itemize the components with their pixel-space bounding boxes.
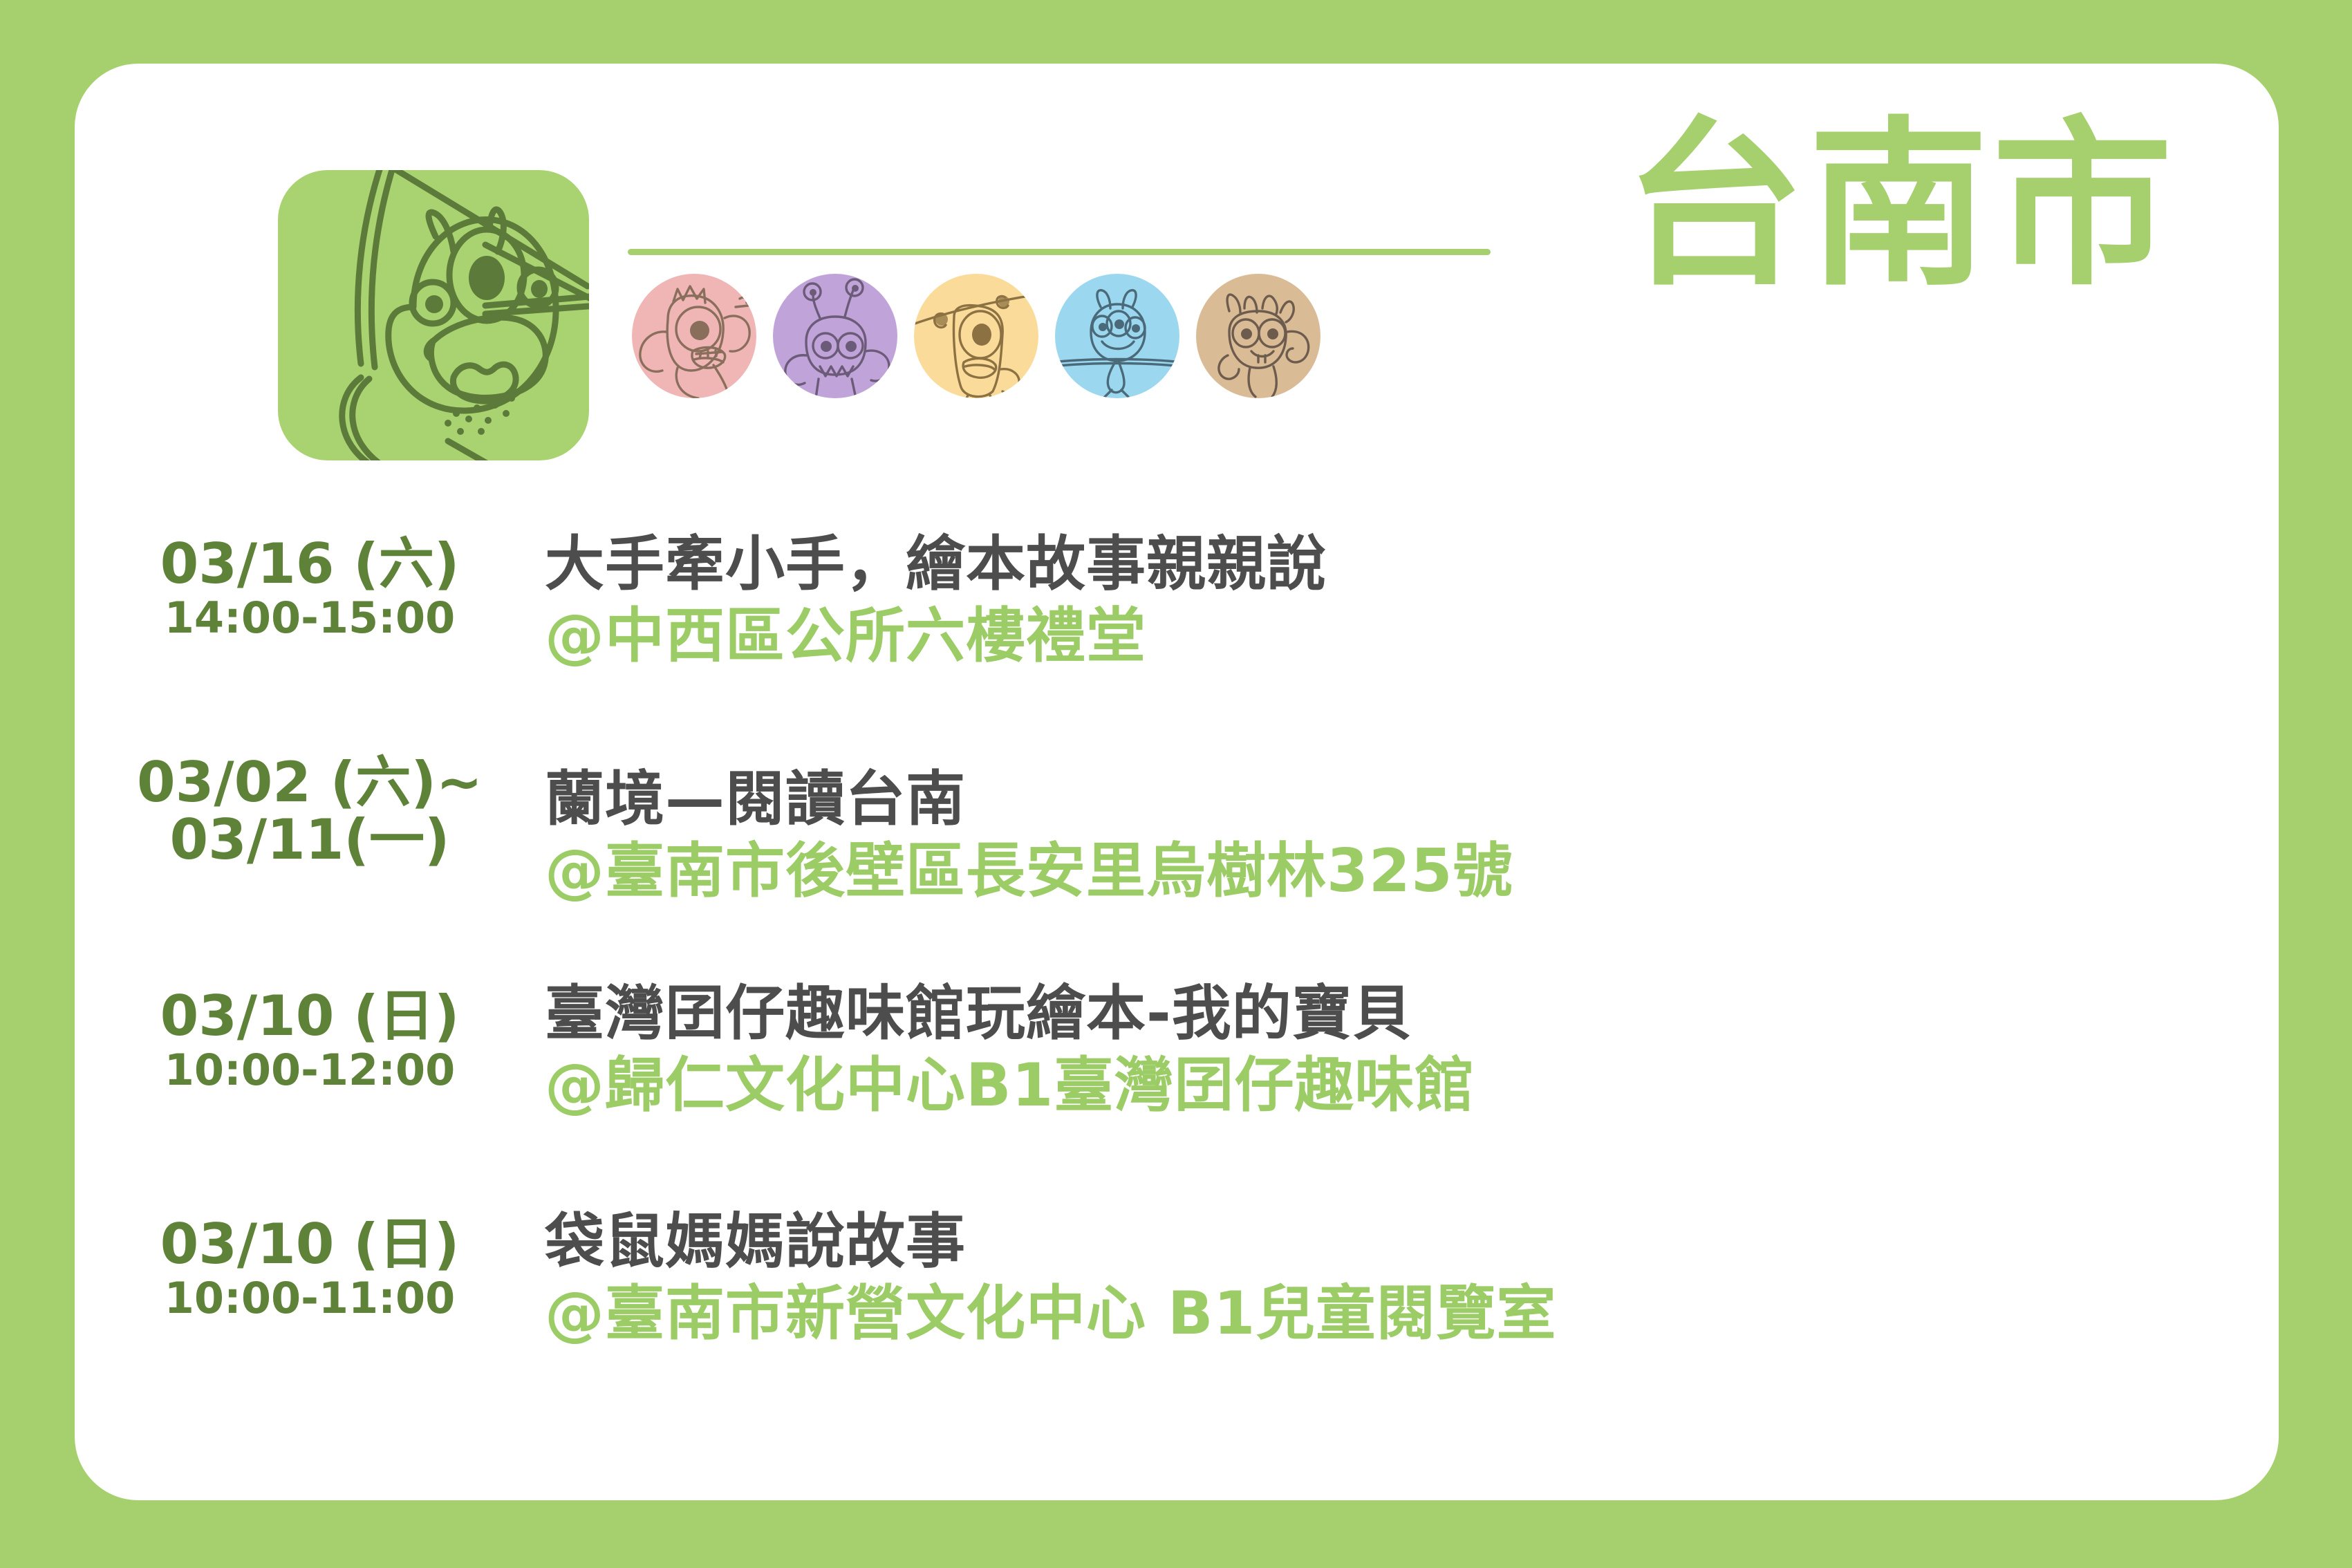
event-time: 14:00-15:00 (75, 592, 545, 643)
avatar-monster-tan (1196, 274, 1320, 398)
event-title: 大手牽小手，繪本故事親親說 (545, 530, 2279, 599)
monster-mascot-icon (278, 170, 589, 460)
event-details: 袋鼠媽媽說故事 @臺南市新營文化中心 B1兒童閱覽室 (545, 1197, 2279, 1351)
horizontal-rule-divider (628, 249, 1491, 255)
avatar-monster-pink (632, 274, 756, 398)
poster-canvas: 台南市 03/16 (六) 14:00-15:00 大手牽小手，繪本故事親親說 … (0, 0, 2352, 1568)
event-time: 10:00-12:00 (75, 1045, 545, 1095)
event-location: @臺南市新營文化中心 B1兒童閱覽室 (545, 1277, 2279, 1351)
event-row: 03/10 (日) 10:00-11:00 袋鼠媽媽說故事 @臺南市新營文化中心… (75, 1197, 2279, 1426)
event-list: 03/16 (六) 14:00-15:00 大手牽小手，繪本故事親親說 @中西區… (75, 520, 2279, 1426)
event-datetime: 03/10 (日) 10:00-11:00 (75, 1197, 545, 1323)
event-location: @臺南市後壁區長安里烏樹林325號 (545, 834, 2279, 908)
event-datetime: 03/10 (日) 10:00-12:00 (75, 969, 545, 1095)
event-datetime: 03/16 (六) 14:00-15:00 (75, 520, 545, 643)
event-details: 蘭境—閱讀台南 @臺南市後壁區長安里烏樹林325號 (545, 748, 2279, 908)
avatar-monster-blue (1055, 274, 1179, 398)
avatar-monster-yellow (914, 274, 1038, 398)
event-location: @中西區公所六樓禮堂 (545, 599, 2279, 673)
event-row: 03/02 (六)~ 03/11(一) 蘭境—閱讀台南 @臺南市後壁區長安里烏樹… (75, 748, 2279, 969)
event-date: 03/16 (六) (75, 535, 545, 592)
event-date: 03/02 (六)~ (75, 754, 545, 811)
event-time: 10:00-11:00 (75, 1273, 545, 1323)
event-details: 大手牽小手，繪本故事親親說 @中西區公所六樓禮堂 (545, 520, 2279, 673)
mascot-avatar-row (632, 274, 1320, 398)
event-title: 蘭境—閱讀台南 (545, 765, 2279, 834)
card-header: 台南市 (75, 64, 2279, 451)
event-row: 03/16 (六) 14:00-15:00 大手牽小手，繪本故事親親說 @中西區… (75, 520, 2279, 748)
event-row: 03/10 (日) 10:00-12:00 臺灣囝仔趣味館玩繪本-我的寶貝 @歸… (75, 969, 2279, 1197)
avatar-monster-purple (773, 274, 897, 398)
event-location: @歸仁文化中心B1臺灣囝仔趣味館 (545, 1049, 2279, 1123)
event-title: 袋鼠媽媽說故事 (545, 1207, 2279, 1277)
event-card: 台南市 03/16 (六) 14:00-15:00 大手牽小手，繪本故事親親說 … (75, 64, 2279, 1500)
event-datetime: 03/02 (六)~ 03/11(一) (75, 748, 545, 868)
event-title: 臺灣囝仔趣味館玩繪本-我的寶貝 (545, 979, 2279, 1049)
event-date: 03/10 (日) (75, 987, 545, 1045)
event-date-end: 03/11(一) (75, 811, 545, 868)
event-details: 臺灣囝仔趣味館玩繪本-我的寶貝 @歸仁文化中心B1臺灣囝仔趣味館 (545, 969, 2279, 1123)
page-title: 台南市 (1625, 116, 2176, 296)
event-date: 03/10 (日) (75, 1215, 545, 1273)
